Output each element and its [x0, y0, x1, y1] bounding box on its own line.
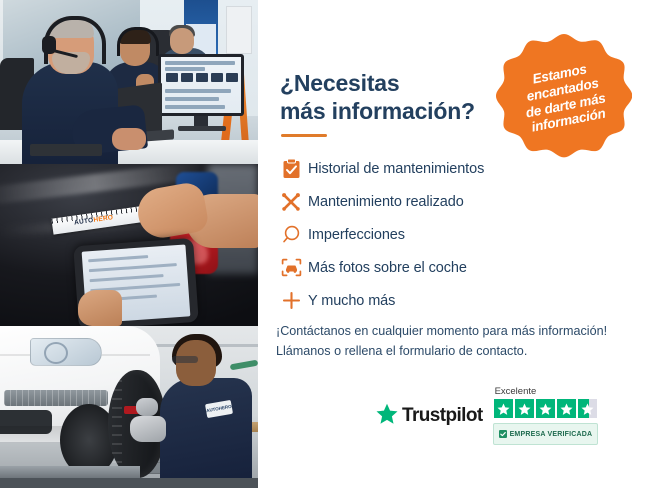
list-item: Historial de mantenimientos — [274, 152, 614, 185]
workshop-mechanic-photo: AUTOHERO — [0, 326, 258, 488]
verified-check-icon — [499, 425, 507, 443]
car-photo-focus-icon — [274, 258, 308, 277]
plus-icon — [274, 291, 308, 310]
list-item: Mantenimiento realizado — [274, 185, 614, 218]
trustpilot-rating-block: Trustpilot Excelente — [376, 386, 632, 445]
photo-glove — [130, 416, 166, 442]
trustpilot-star-icon — [376, 403, 398, 429]
page-title-line-1: ¿Necesitas — [280, 70, 399, 96]
page-title-line-2: más información? — [280, 98, 475, 124]
star-partial-5 — [578, 399, 597, 418]
photo-headlight-ring — [44, 342, 68, 364]
title-underline-divider — [281, 134, 327, 137]
photo-agent-1-hand — [112, 128, 146, 150]
page-title: ¿Necesitas más información? — [280, 69, 510, 125]
photo-poster — [226, 6, 252, 54]
contact-paragraph: ¡Contáctanos en cualquier momento para m… — [276, 322, 636, 361]
trustpilot-score: Excelente — [493, 386, 599, 445]
list-item: Imperfecciones — [274, 218, 614, 251]
list-item-label: Mantenimiento realizado — [308, 194, 464, 210]
magnifier-icon — [274, 225, 308, 244]
promo-card: AUTOHERO — [0, 0, 650, 488]
content-panel: ¿Necesitas más información? Estamos — [258, 0, 650, 488]
car-inspection-ruler-photo: AUTOHERO — [0, 164, 258, 326]
star-filled-2 — [515, 399, 534, 418]
photo-monitor-screen — [161, 57, 241, 113]
star-filled-1 — [494, 399, 513, 418]
status-badge-label: EMPRESA VERIFICADA — [510, 431, 593, 438]
photo-lift-base — [0, 478, 258, 488]
badge-text: Estamos encantados de darte más informac… — [504, 56, 624, 140]
list-item-label: Más fotos sobre el coche — [308, 260, 467, 276]
photo-mechanic-body — [160, 378, 252, 488]
list-item: Y mucho más — [274, 284, 614, 317]
contact-line-2: Llámanos o rellena el formulario de cont… — [276, 342, 636, 362]
photo-agent-2-headset — [117, 27, 159, 56]
photo-mechanic-head — [176, 340, 216, 386]
contact-line-1: ¡Contáctanos en cualquier momento para m… — [276, 322, 636, 342]
list-item-label: Y mucho más — [308, 293, 395, 309]
photo-keyboard — [30, 144, 102, 156]
star-filled-4 — [557, 399, 576, 418]
photo-tyre-tread — [112, 376, 122, 472]
feature-list: Historial de mantenimientos Mantenimient… — [274, 152, 614, 317]
trustpilot-rating-label: Excelente — [495, 386, 537, 397]
photo-hand-lower — [78, 290, 122, 326]
status-badge: EMPRESA VERIFICADA — [493, 423, 599, 445]
clipboard-check-icon — [274, 159, 308, 179]
promo-starburst-badge: Estamos encantados de darte más informac… — [496, 30, 632, 164]
list-item-label: Imperfecciones — [308, 227, 405, 243]
trustpilot-wordmark: Trustpilot — [402, 405, 483, 427]
star-filled-3 — [536, 399, 555, 418]
trustpilot-stars — [494, 399, 597, 418]
photo-column: AUTOHERO — [0, 0, 258, 488]
photo-mechanic-glasses — [172, 356, 198, 363]
list-item-label: Historial de mantenimientos — [308, 161, 484, 177]
trustpilot-logo: Trustpilot — [376, 403, 483, 429]
photo-glove-upper — [136, 398, 158, 416]
photo-monitor-base — [178, 126, 226, 131]
photo-monitor — [158, 54, 244, 116]
call-centre-agents-photo — [0, 0, 258, 164]
list-item: Más fotos sobre el coche — [274, 251, 614, 284]
photo-agent-3-head — [170, 28, 194, 54]
tools-wrench-screwdriver-icon — [274, 192, 308, 212]
